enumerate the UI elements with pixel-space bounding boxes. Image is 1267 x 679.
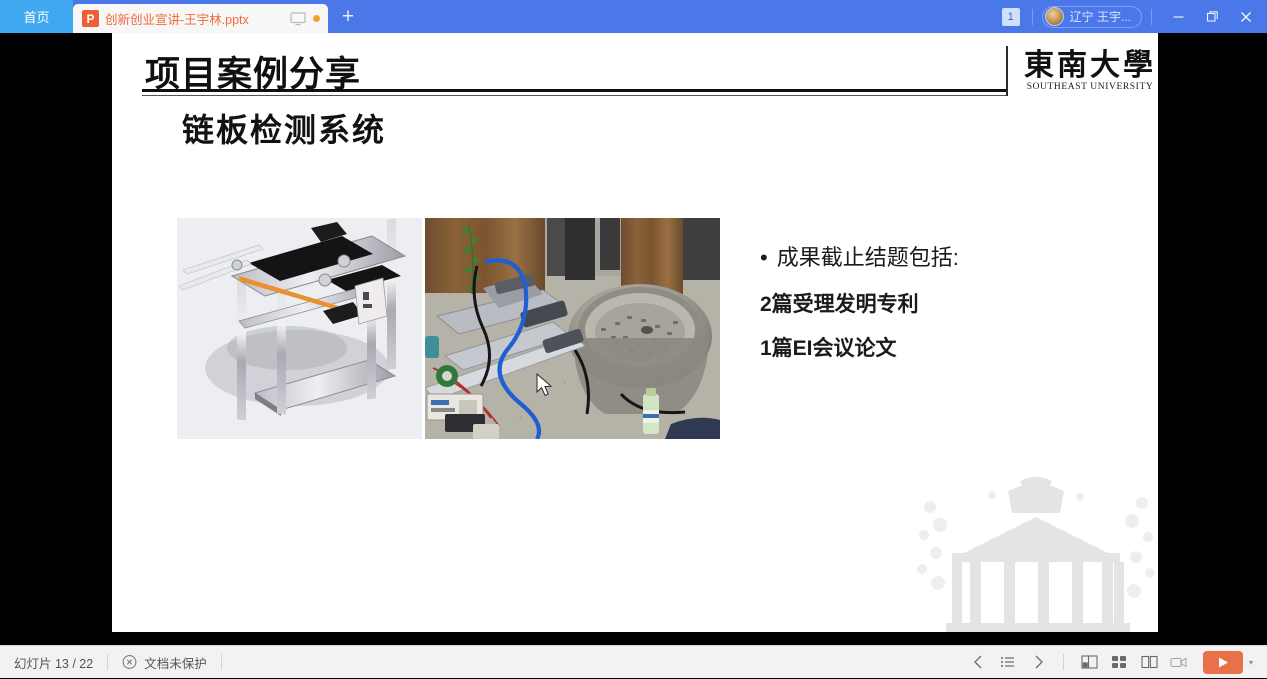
play-icon <box>1217 656 1229 669</box>
unsaved-dot <box>313 15 320 22</box>
home-button[interactable]: 首页 <box>0 0 73 33</box>
normal-view-icon <box>1081 654 1098 670</box>
bullet-heading-text: 成果截止结题包括: <box>777 245 959 270</box>
presenter-view-button[interactable] <box>1164 646 1194 679</box>
lab-photo-vibratory-feeder[interactable] <box>425 218 720 439</box>
monitor-icon[interactable] <box>290 12 306 26</box>
logo-english-name: SOUTHEAST UNIVERSITY <box>1024 82 1156 92</box>
bullet-text-block: •成果截止结题包括: 2篇受理发明专利 1篇EI会议论文 <box>760 240 1100 376</box>
close-icon <box>1239 10 1253 24</box>
seu-auditorium-watermark <box>912 473 1158 632</box>
restore-button[interactable] <box>1195 0 1229 33</box>
title-bar: 首页 P 创新创业宣讲-王宇林.pptx + 1 辽宁 王宇... <box>0 0 1267 33</box>
status-divider-3 <box>1063 654 1064 670</box>
shield-x-icon <box>122 654 137 670</box>
list-icon <box>1000 654 1016 670</box>
titlebar-spacer <box>368 0 1002 33</box>
chevron-right-icon <box>1032 654 1045 670</box>
previous-slide-button[interactable] <box>963 646 993 679</box>
notification-badge[interactable]: 1 <box>1002 8 1020 26</box>
wps-presentation-icon: P <box>82 10 99 27</box>
slide-counter[interactable]: 幻灯片 13 / 22 <box>0 646 107 679</box>
logo-chinese-name: 東南大學 <box>1024 50 1156 82</box>
bullet-dot-icon: • <box>760 245 768 270</box>
document-tab[interactable]: P 创新创业宣讲-王宇林.pptx <box>73 4 328 33</box>
minimize-button[interactable] <box>1161 0 1195 33</box>
start-slideshow-button[interactable] <box>1203 651 1243 674</box>
title-rule-thin <box>142 95 1008 96</box>
slideshow-options-caret[interactable]: ▾ <box>1243 658 1259 667</box>
minimize-icon <box>1172 10 1185 23</box>
chevron-left-icon <box>972 654 985 670</box>
logo-divider <box>1006 46 1008 96</box>
document-protection-label: 文档未保护 <box>144 653 207 672</box>
lab-photo-drawing <box>425 218 720 439</box>
bullet-item-1: 1篇EI会议论文 <box>760 332 1100 362</box>
slide-sorter-button[interactable] <box>1104 646 1134 679</box>
close-button[interactable] <box>1229 0 1263 33</box>
status-divider-2 <box>221 654 222 670</box>
avatar <box>1045 7 1064 26</box>
slide-list-button[interactable] <box>993 646 1023 679</box>
next-slide-button[interactable] <box>1023 646 1053 679</box>
watermark-drawing <box>912 473 1158 632</box>
restore-icon <box>1206 10 1219 23</box>
presenter-view-icon <box>1170 654 1188 670</box>
slide-canvas[interactable]: 项目案例分享 链板检测系统 東南大學 SOUTHEAST UNIVERSITY <box>112 33 1158 632</box>
status-bar: 幻灯片 13 / 22 文档未保护 <box>0 645 1267 678</box>
cad-render-drawing <box>177 218 422 439</box>
reading-view-button[interactable] <box>1134 646 1164 679</box>
slide-stage: 项目案例分享 链板检测系统 東南大學 SOUTHEAST UNIVERSITY <box>0 33 1267 645</box>
reading-view-icon <box>1141 654 1158 670</box>
university-logo: 東南大學 SOUTHEAST UNIVERSITY <box>1006 46 1156 96</box>
document-tab-label: 创新创业宣讲-王宇林.pptx <box>105 9 290 28</box>
user-account-button[interactable]: 辽宁 王宇... <box>1042 6 1142 28</box>
bullet-heading: •成果截止结题包括: <box>760 240 1100 272</box>
document-protection-status[interactable]: 文档未保护 <box>108 646 221 679</box>
title-rule-thick <box>142 89 1008 92</box>
cad-render-conveyor-frame[interactable] <box>177 218 422 439</box>
slide-subtitle: 链板检测系统 <box>182 105 386 151</box>
user-name-label: 辽宁 王宇... <box>1070 8 1131 25</box>
normal-view-button[interactable] <box>1074 646 1104 679</box>
titlebar-divider-2 <box>1151 9 1152 25</box>
bullet-item-0: 2篇受理发明专利 <box>760 288 1100 318</box>
slide-sorter-icon <box>1111 654 1127 670</box>
new-tab-button[interactable]: + <box>328 0 368 33</box>
titlebar-divider <box>1032 9 1033 25</box>
titlebar-right-group: 1 辽宁 王宇... <box>1002 0 1267 33</box>
